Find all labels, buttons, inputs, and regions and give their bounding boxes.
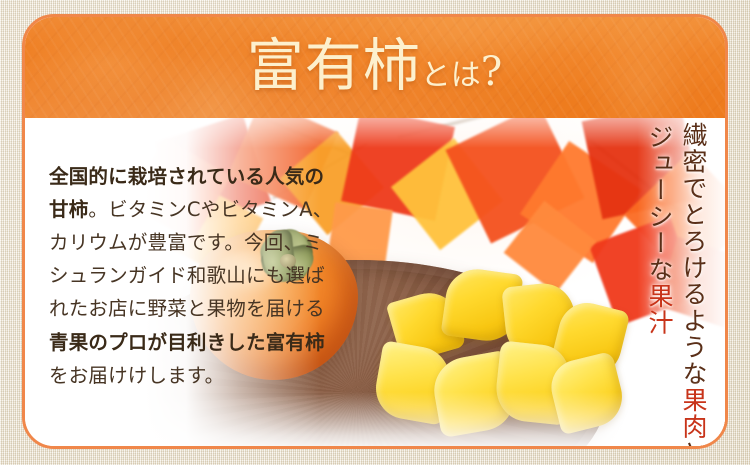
description-bold-pro: 青果のプロが目利きした富有柿 (49, 331, 325, 354)
vertical-caption-right: 繊密でとろけるような果肉と (675, 122, 711, 446)
description-text-2: をお届けけします。 (49, 364, 224, 387)
title-main: 富有柿 (247, 33, 421, 99)
page-title: 富有柿とは? (25, 31, 725, 111)
promo-card: 富有柿とは? (22, 14, 728, 449)
vertical-caption-right-plain-1: 繊密でとろけるような (679, 122, 708, 387)
content-area: 全国的に栽培されている人気の甘柿。ビタミンCやビタミンA、カリウムが豊富です。今… (25, 118, 725, 446)
vertical-caption-right-plain-2: と (679, 440, 708, 446)
page-root: 富有柿とは? (0, 0, 750, 465)
vertical-caption-left-plain: ジューシーな (645, 124, 674, 283)
vertical-caption-left-accent: 果汁 (645, 283, 674, 336)
description-text-1: 。ビタミンCやビタミンA、カリウムが豊富です。今回、ミシュランガイド和歌山にも選… (49, 198, 332, 321)
header-band: 富有柿とは? (25, 17, 725, 118)
vertical-caption-left: ジューシーな果汁 (641, 124, 677, 336)
title-question-mark: ? (481, 49, 503, 95)
description-paragraph: 全国的に栽培されている人気の甘柿。ビタミンCやビタミンA、カリウムが豊富です。今… (49, 160, 335, 392)
vertical-caption-right-accent: 果肉 (679, 387, 708, 440)
title-suffix: とは (421, 58, 481, 93)
